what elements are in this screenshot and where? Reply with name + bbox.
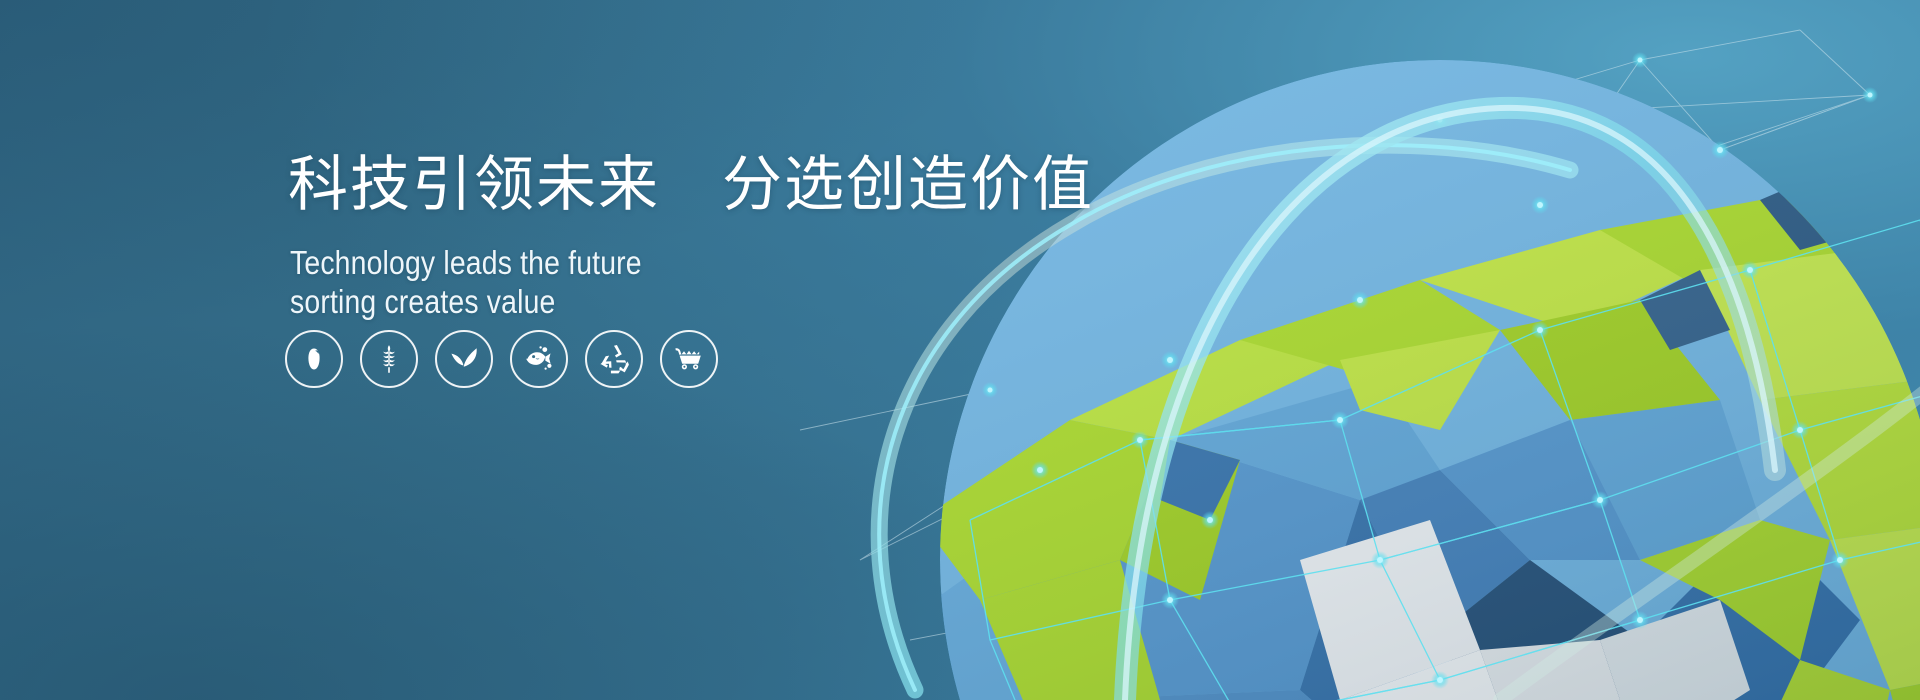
copy-block: 科技引领未来 分选创造价值 Technology leads the futur…: [288, 150, 1188, 322]
recycle-icon: [599, 344, 629, 374]
hero-banner: 科技引领未来 分选创造价值 Technology leads the futur…: [0, 0, 1920, 700]
icon-badge-rice[interactable]: [285, 330, 343, 388]
icon-badge-wheat[interactable]: [360, 330, 418, 388]
rice-grain-icon: [299, 344, 329, 374]
subtitle-line-1: Technology leads the future: [290, 243, 1062, 283]
wheat-icon: [373, 343, 405, 375]
fish-icon: [523, 345, 555, 373]
leaf-icon: [448, 344, 480, 374]
page-title: 科技引领未来 分选创造价值: [288, 150, 1188, 221]
icon-badge-recycle[interactable]: [585, 330, 643, 388]
icon-badge-leaf[interactable]: [435, 330, 493, 388]
icon-badge-mine-cart[interactable]: [660, 330, 718, 388]
industry-icon-row: [285, 330, 718, 388]
subtitle: Technology leads the future sorting crea…: [290, 243, 1062, 322]
subtitle-line-2: sorting creates value: [290, 282, 1062, 322]
globe-artwork: [740, 0, 1920, 700]
icon-badge-fish[interactable]: [510, 330, 568, 388]
mine-cart-icon: [673, 345, 705, 373]
